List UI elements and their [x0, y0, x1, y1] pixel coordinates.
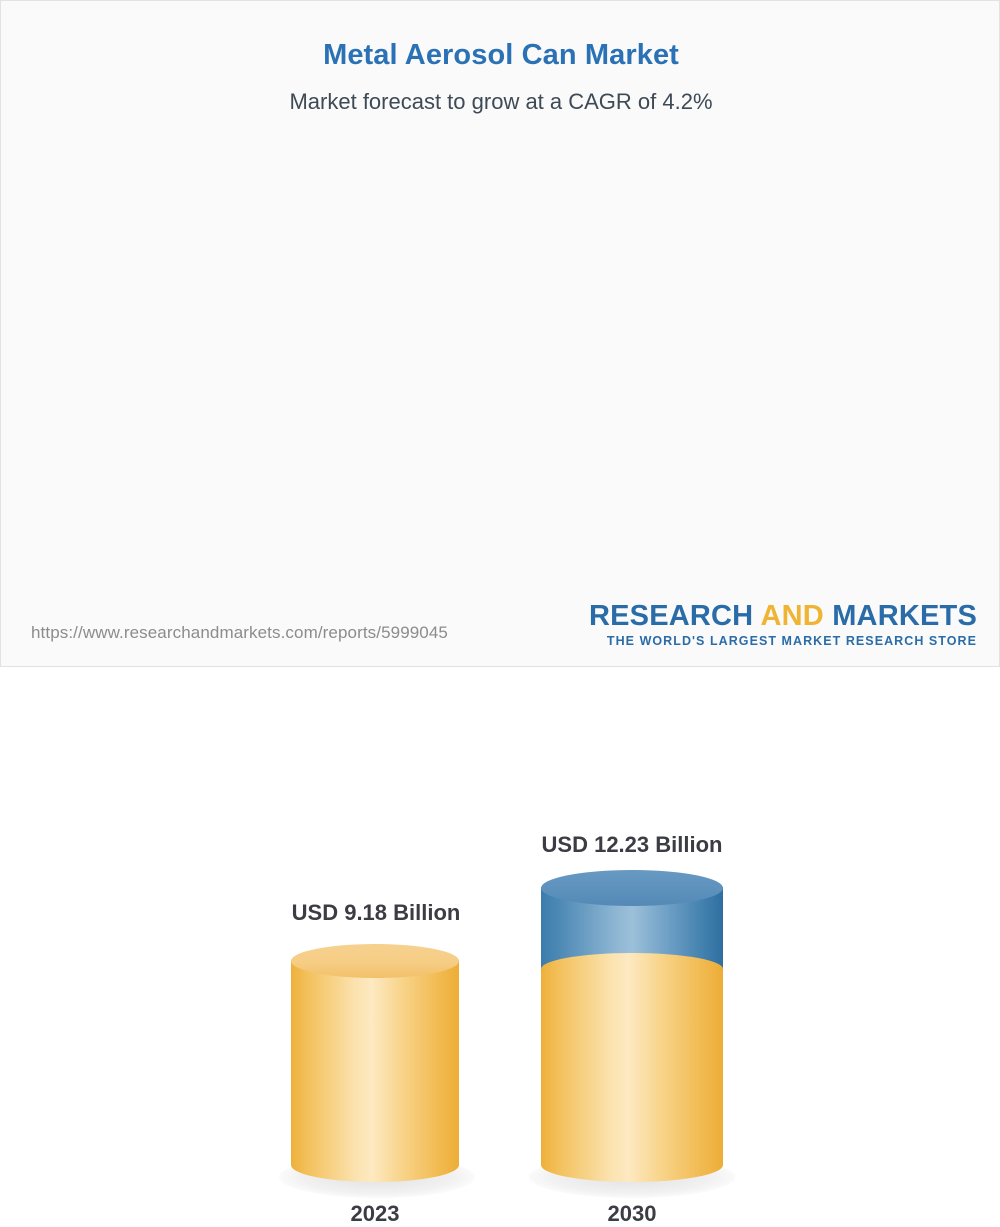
brand-wordmark: RESEARCH AND MARKETS [589, 601, 977, 631]
bar-value-label-2023: USD 9.18 Billion [216, 900, 536, 926]
brand-word-markets: MARKETS [832, 600, 977, 632]
brand-word-research: RESEARCH [589, 600, 753, 632]
cylinder-cap-2030 [541, 870, 723, 906]
cylinder-body-2023 [291, 960, 459, 1165]
category-label-2030: 2030 [472, 1201, 792, 1227]
brand-word-and: AND [761, 600, 824, 632]
chart-canvas: Metal Aerosol Can Market Market forecast… [0, 0, 1000, 667]
brand-tagline: THE WORLD'S LARGEST MARKET RESEARCH STOR… [589, 634, 977, 648]
source-url[interactable]: https://www.researchandmarkets.com/repor… [31, 623, 448, 643]
cylinder-cap-2023 [291, 944, 459, 978]
cylinder-segment-gold-2030 [541, 970, 723, 1165]
cylinder-seam-2030 [541, 953, 723, 985]
bar-value-label-2030: USD 12.23 Billion [472, 832, 792, 858]
cylinder-body-2030 [541, 887, 723, 1165]
cylinder-segment-gold-2023 [291, 960, 459, 1165]
plot-area: USD 9.18 Billion 2023 USD 12.23 Billion [1, 1, 1000, 668]
brand-logo[interactable]: RESEARCH AND MARKETS THE WORLD'S LARGEST… [589, 601, 977, 648]
